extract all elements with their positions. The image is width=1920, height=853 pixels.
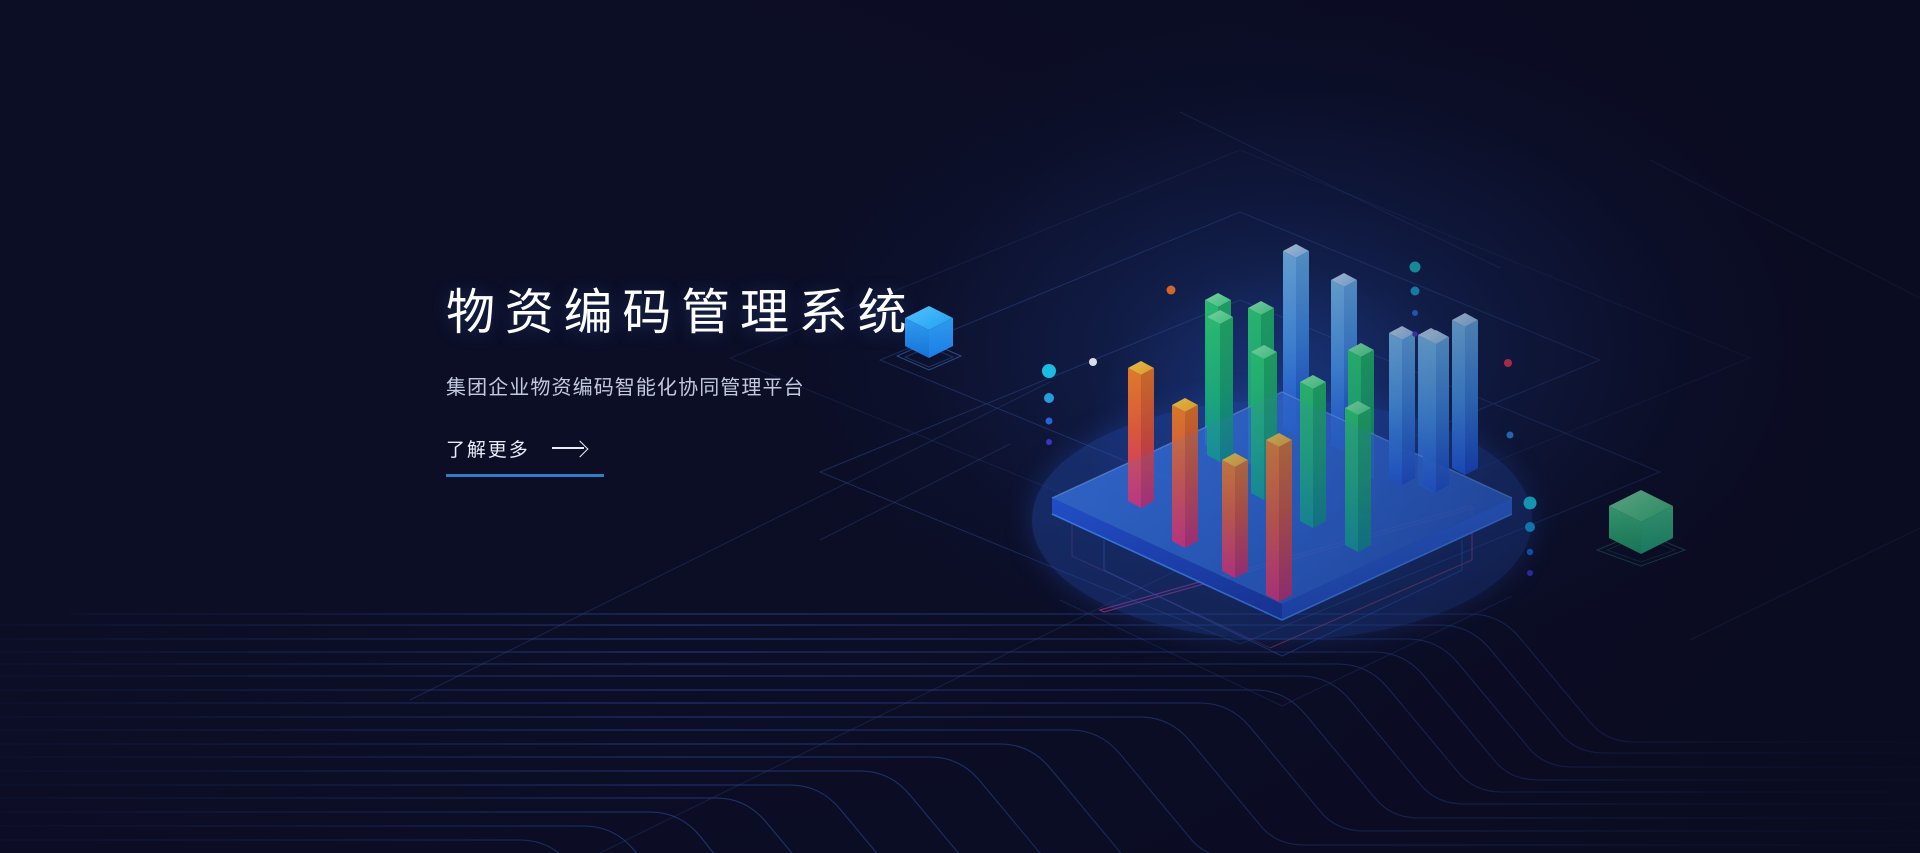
green-cube-icon — [1593, 484, 1689, 568]
arrow-right-icon — [552, 441, 586, 455]
learn-more-button[interactable]: 了解更多 — [446, 435, 604, 477]
hero-banner: 物资编码管理系统 集团企业物资编码智能化协同管理平台 了解更多 — [0, 0, 1920, 853]
hero-copy: 物资编码管理系统 集团企业物资编码智能化协同管理平台 了解更多 — [446, 286, 1066, 477]
page-title: 物资编码管理系统 — [446, 286, 1066, 341]
learn-more-label: 了解更多 — [446, 435, 530, 462]
page-subtitle: 集团企业物资编码智能化协同管理平台 — [446, 371, 1066, 400]
